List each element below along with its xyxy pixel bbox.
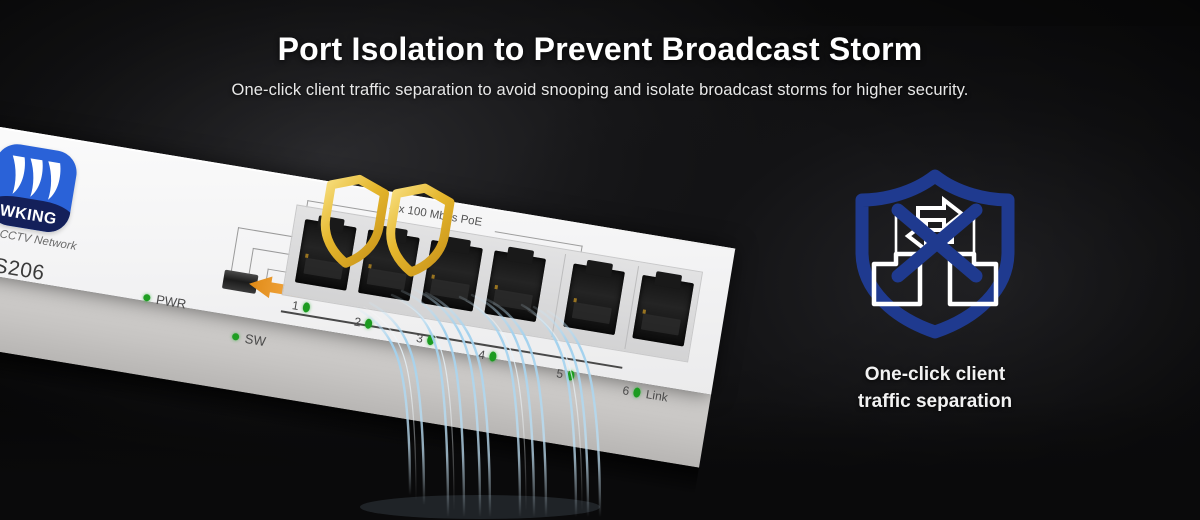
port-led-2-icon [364,318,373,329]
rj45-port-6[interactable] [632,275,694,347]
sw-led-icon [232,333,240,341]
header-block: Port Isolation to Prevent Broadcast Stor… [0,32,1200,100]
feature-caption: One-click client traffic separation [790,362,1080,416]
port-slot [493,289,533,311]
port-led-6-icon [632,387,641,398]
pwr-led-icon [143,294,151,302]
page-subtitle: One-click client traffic separation to a… [0,81,1200,100]
feature-panel: One-click client traffic separation [790,160,1080,416]
poster-canvas: Port Isolation to Prevent Broadcast Stor… [0,0,1200,520]
feature-caption-line-1: One-click client [790,362,1080,389]
page-title: Port Isolation to Prevent Broadcast Stor… [0,32,1200,67]
rj45-port-4[interactable] [484,250,546,322]
port-led-1-icon [302,302,311,313]
port-indicator-3: 3 [415,330,435,348]
port-pin [573,298,577,302]
port-number-1: 1 [291,298,300,313]
port-number-5: 5 [555,366,564,381]
port-tab-icon [585,260,613,278]
port-number-2: 2 [353,314,362,329]
port-number-3: 3 [415,331,424,346]
port-indicator-2: 2 [353,314,373,332]
brand-logo: WKING [0,141,80,235]
port-slot [572,302,612,324]
port-slot [641,314,681,336]
feature-caption-line-2: traffic separation [790,389,1080,416]
port-tab-icon [506,247,534,265]
port-indicator-4: 4 [477,346,497,364]
port-pin [305,254,309,258]
port-pin [494,285,498,289]
rj45-port-5[interactable] [563,263,625,335]
port-number-4: 4 [477,347,486,362]
device-model-label: WK-PS206 [0,245,46,286]
port-indicator-1: 1 [291,297,311,315]
port-pin [642,309,646,313]
port-tab-icon [654,271,682,289]
indicator-sw-label: SW [244,331,267,349]
port-led-3-icon [426,334,435,345]
port-indicator-5: 5 [555,365,575,383]
shield-isolation-icon [840,160,1030,340]
port-number-6: 6 [622,383,631,398]
